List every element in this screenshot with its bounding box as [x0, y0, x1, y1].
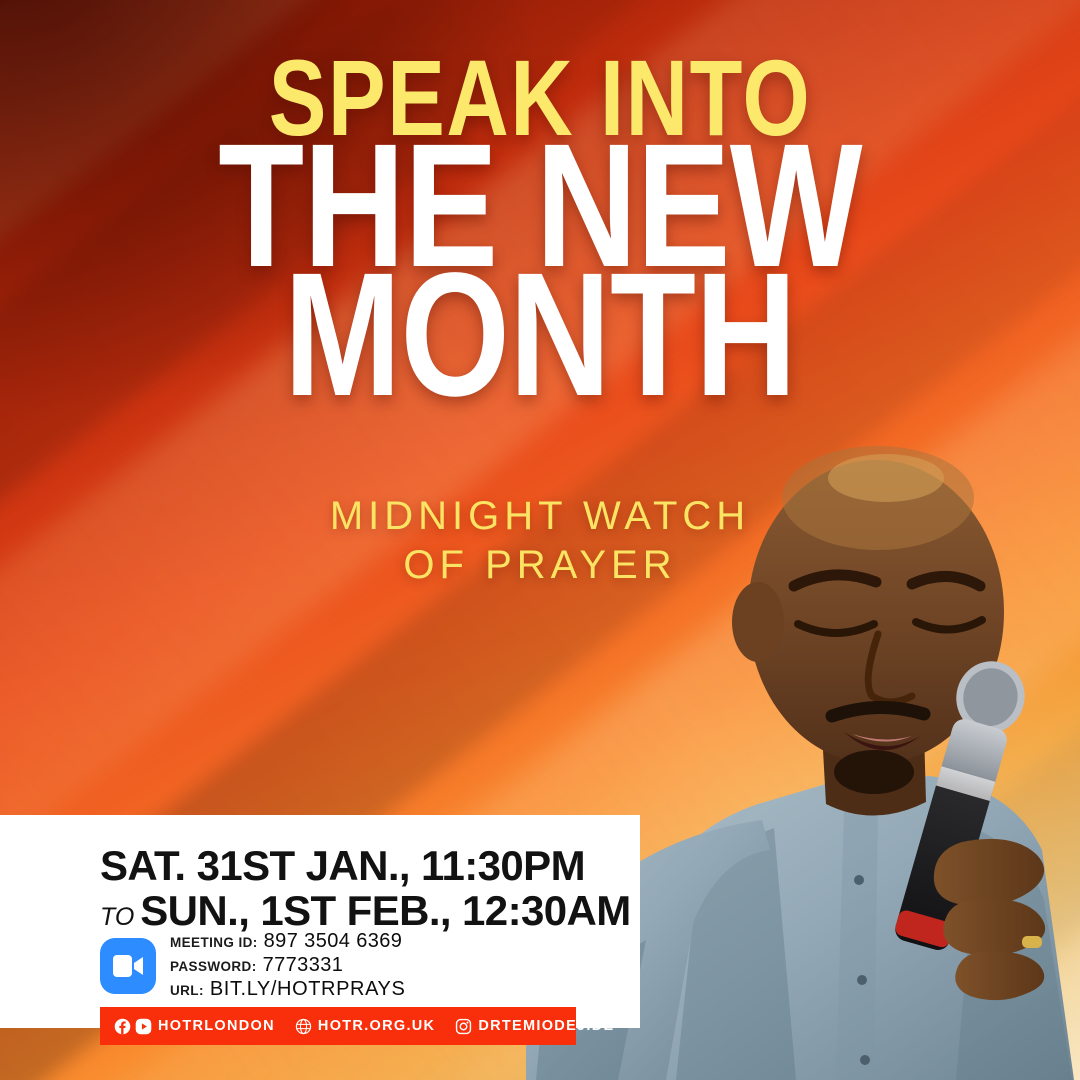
social-item-hotrlondon[interactable]: HOTRLONDON — [114, 1018, 275, 1035]
social-label-instagram: DRTEMIODEJIDE — [478, 1018, 614, 1034]
password-value: 7773331 — [263, 954, 344, 977]
meeting-id-value: 897 3504 6369 — [264, 930, 403, 953]
social-label-website: HOTR.ORG.UK — [318, 1018, 435, 1034]
social-label-hotrlondon: HOTRLONDON — [158, 1018, 275, 1034]
globe-icon[interactable] — [295, 1018, 312, 1035]
social-item-instagram[interactable]: DRTEMIODEJIDE — [455, 1018, 614, 1035]
url-line: URL: BIT.LY/HOTRPRAYS — [170, 978, 405, 1001]
social-item-website[interactable]: HOTR.ORG.UK — [295, 1018, 435, 1035]
facebook-icon[interactable] — [114, 1018, 131, 1035]
password-line: PASSWORD: 7773331 — [170, 954, 405, 977]
schedule-line-2: SUN., 1ST FEB., 12:30AM — [140, 887, 630, 934]
zoom-credentials: MEETING ID: 897 3504 6369 PASSWORD: 7773… — [170, 930, 405, 1001]
youtube-icon[interactable] — [135, 1018, 152, 1035]
background-dark-corner-glow — [0, 0, 562, 432]
schedule-block: SAT. 31ST JAN., 11:30PM TOSUN., 1ST FEB.… — [100, 845, 631, 933]
zoom-camera-icon — [100, 938, 156, 994]
social-media-bar: HOTRLONDON HOTR.ORG.UK DRTEMIODEJIDE — [100, 1007, 576, 1045]
url-value[interactable]: BIT.LY/HOTRPRAYS — [210, 978, 406, 1001]
zoom-details-row: MEETING ID: 897 3504 6369 PASSWORD: 7773… — [100, 930, 405, 1001]
event-flyer: SPEAK INTO THE NEW MONTH MIDNIGHT WATCH … — [0, 0, 1080, 1080]
url-label: URL: — [170, 983, 204, 998]
schedule-to-word: TO — [100, 903, 134, 931]
schedule-line-2-wrapper: TOSUN., 1ST FEB., 12:30AM — [100, 890, 631, 933]
meeting-id-line: MEETING ID: 897 3504 6369 — [170, 930, 405, 953]
schedule-line-1: SAT. 31ST JAN., 11:30PM — [100, 845, 631, 888]
meeting-id-label: MEETING ID: — [170, 935, 258, 950]
password-label: PASSWORD: — [170, 959, 257, 974]
instagram-icon[interactable] — [455, 1018, 472, 1035]
